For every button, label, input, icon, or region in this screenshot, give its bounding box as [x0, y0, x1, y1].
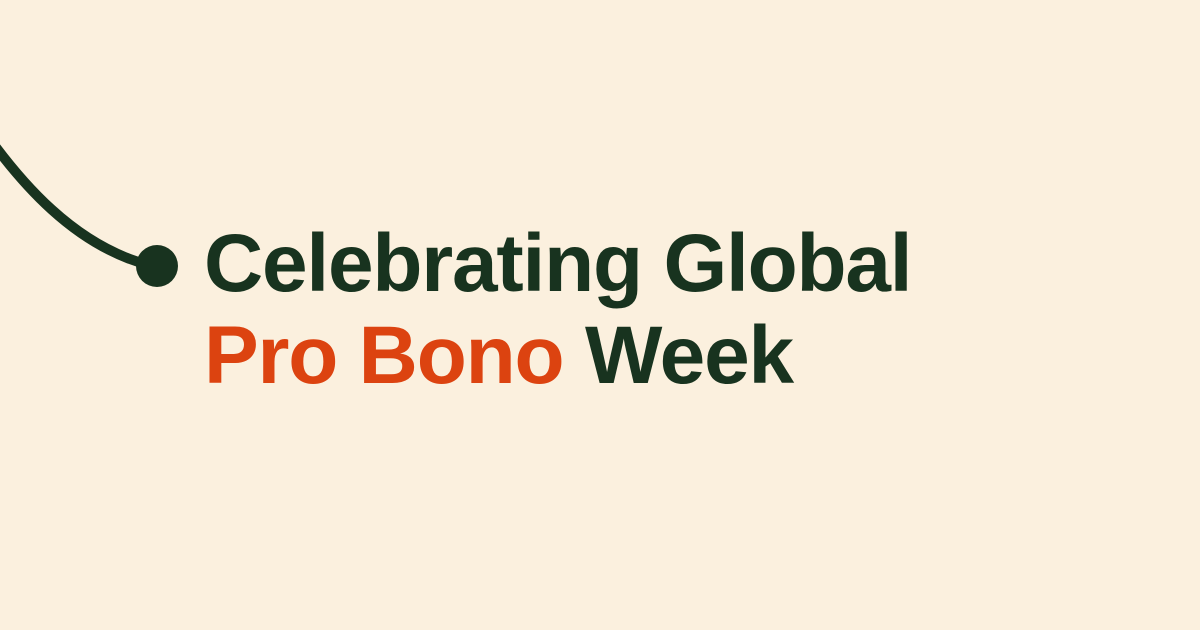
headline-line-1: Celebrating Global [204, 218, 911, 310]
headline-line-1-text: Celebrating Global [204, 218, 911, 309]
page-title: Celebrating Global Pro Bono Week [204, 218, 911, 402]
headline-line-2: Pro Bono Week [204, 310, 911, 402]
headline-rest-text: Week [585, 310, 793, 401]
promo-banner: Celebrating Global Pro Bono Week [0, 0, 1200, 630]
headline-highlight-text: Pro Bono [204, 310, 563, 401]
headline-word-separator [563, 310, 585, 401]
dot-endpoint-icon [136, 245, 178, 287]
curved-line-icon [0, 95, 152, 266]
